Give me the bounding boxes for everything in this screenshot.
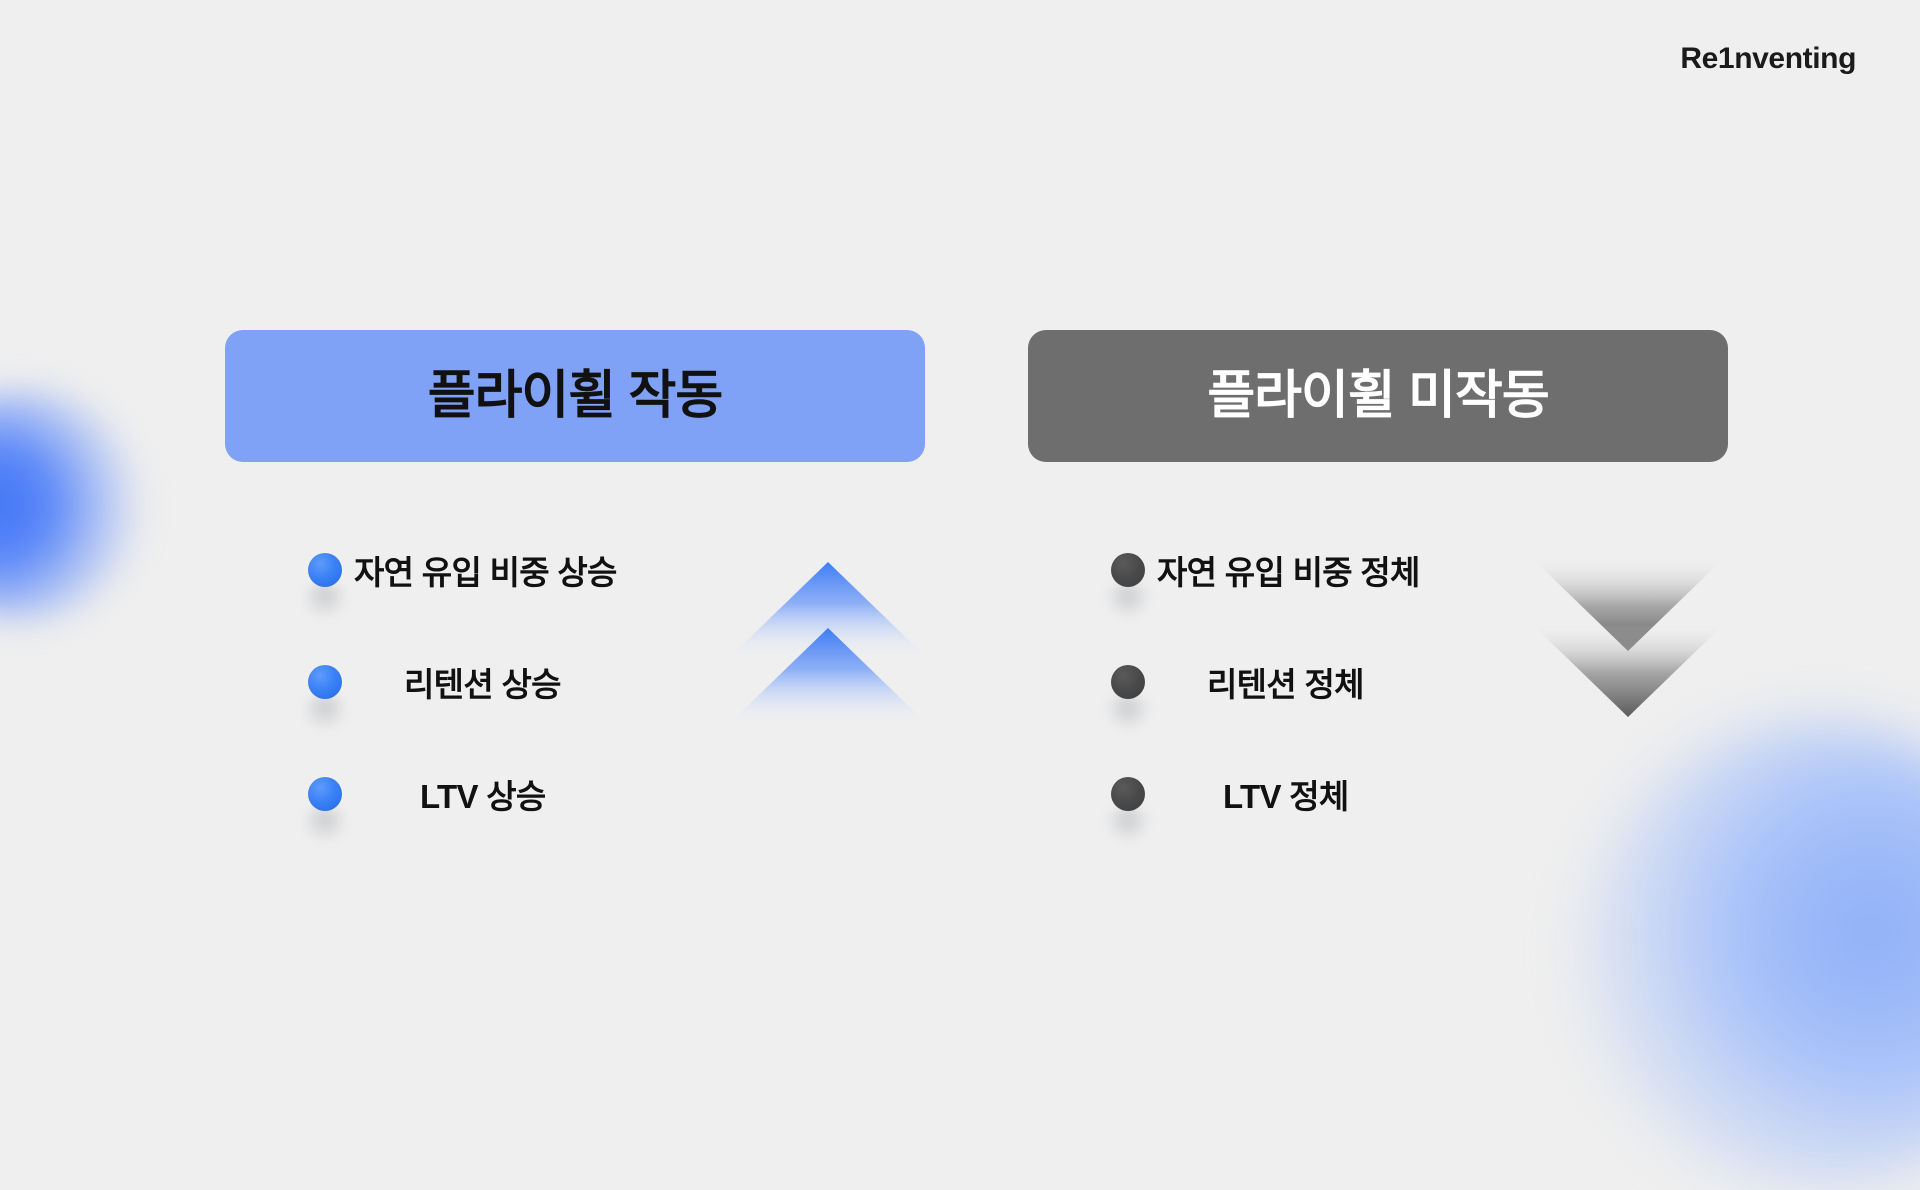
bullet-dot-wrap	[1111, 777, 1145, 811]
bullet-dot-shadow	[1107, 807, 1149, 841]
bullet-dot-wrap	[308, 553, 342, 587]
bullet-dot-shadow	[1107, 695, 1149, 729]
list-item-label: 리텐션 정체	[1207, 658, 1364, 706]
list-item-label: 자연 유입 비중 상승	[354, 546, 617, 594]
bullet-list-flywheel-active: 자연 유입 비중 상승 리텐션 상승 LTV 상승	[225, 514, 765, 850]
list-item: LTV 상승	[225, 738, 765, 850]
bullet-dot-icon	[1111, 553, 1145, 587]
bullet-dot-shadow	[304, 695, 346, 729]
list-item-label: LTV 정체	[1223, 770, 1349, 818]
bullet-dot-wrap	[1111, 665, 1145, 699]
card-header-flywheel-inactive: 플라이휠 미작동	[1028, 330, 1728, 462]
card-header-title: 플라이휠 미작동	[1207, 370, 1548, 422]
list-item-label: LTV 상승	[420, 770, 546, 818]
bullet-dot-icon	[1111, 665, 1145, 699]
list-item: 자연 유입 비중 상승	[225, 514, 765, 626]
card-header-flywheel-active: 플라이휠 작동	[225, 330, 925, 462]
trend-down-arrows	[1533, 558, 1723, 738]
trend-up-arrows	[733, 560, 923, 740]
bullet-dot-icon	[308, 553, 342, 587]
list-item-label: 자연 유입 비중 정체	[1157, 546, 1420, 594]
list-item: 리텐션 상승	[225, 626, 765, 738]
bullet-dot-icon	[1111, 777, 1145, 811]
arrow-down-icon	[1533, 624, 1723, 719]
bullet-dot-wrap	[1111, 553, 1145, 587]
list-item: LTV 정체	[1028, 738, 1568, 850]
left-edge-blue-blob	[0, 390, 138, 620]
bullet-list-flywheel-inactive: 자연 유입 비중 정체 리텐션 정체 LTV 정체	[1028, 514, 1568, 850]
arrow-up-icon	[733, 626, 923, 721]
card-header-title: 플라이휠 작동	[428, 370, 723, 422]
bullet-dot-icon	[308, 777, 342, 811]
list-item: 리텐션 정체	[1028, 626, 1568, 738]
bullet-dot-shadow	[304, 807, 346, 841]
list-item-label: 리텐션 상승	[404, 658, 561, 706]
list-item: 자연 유입 비중 정체	[1028, 514, 1568, 626]
bullet-dot-icon	[308, 665, 342, 699]
bullet-dot-shadow	[1107, 583, 1149, 617]
bullet-dot-shadow	[304, 583, 346, 617]
bullet-dot-wrap	[308, 665, 342, 699]
bullet-dot-wrap	[308, 777, 342, 811]
brand-logo: Re1nventing	[1680, 42, 1856, 76]
